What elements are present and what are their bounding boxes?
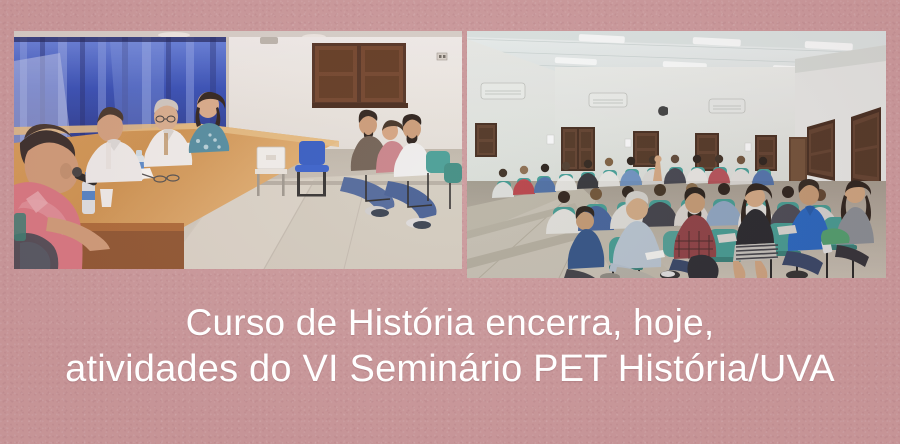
- headline-line-1: Curso de História encerra, hoje,: [0, 300, 900, 346]
- headline-line-2: atividades do VI Seminário PET História/…: [0, 346, 900, 392]
- panel-table-photo: [14, 31, 462, 269]
- panel-table-illustration: [14, 31, 462, 269]
- page-title: Curso de História encerra, hoje, ativida…: [0, 300, 900, 392]
- news-banner: Curso de História encerra, hoje, ativida…: [0, 0, 900, 444]
- auditorium-audience-photo: [467, 31, 886, 278]
- auditorium-illustration: [467, 31, 886, 278]
